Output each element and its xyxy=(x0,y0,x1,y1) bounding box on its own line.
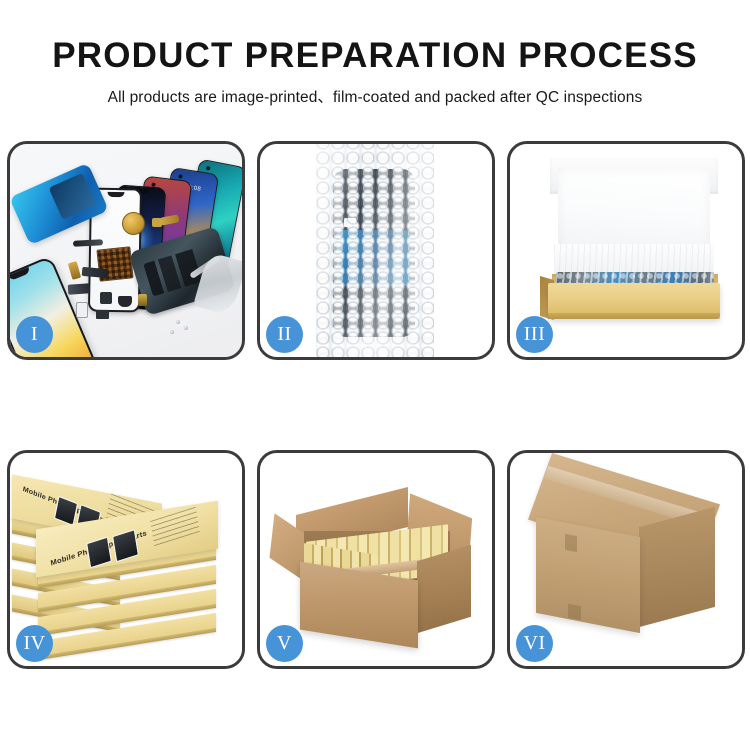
box-edge xyxy=(38,628,216,660)
process-step-panel-1[interactable]: 16:08 xyxy=(7,141,245,360)
screw-part xyxy=(184,326,188,330)
process-step-panel-4[interactable]: Mobile Phone Spare Parts Mobile Phone Sp… xyxy=(7,450,245,669)
taptic-engine-part xyxy=(118,296,132,307)
vibration-motor-part xyxy=(122,212,145,235)
carton-front-face xyxy=(536,517,640,633)
step-badge-2: II xyxy=(266,316,303,353)
process-step-panel-6[interactable]: VI xyxy=(507,450,745,669)
camera-module-part xyxy=(68,283,91,295)
screw-part xyxy=(170,330,174,334)
box-artwork-thumbnail xyxy=(112,529,139,562)
box-artwork-thumbnail xyxy=(54,496,78,526)
step-badge-5: V xyxy=(266,625,303,662)
process-step-grid: 16:08 xyxy=(7,141,745,669)
screw-part xyxy=(176,320,180,324)
carton-right-face xyxy=(639,507,715,627)
process-step-panel-5[interactable]: V xyxy=(257,450,495,669)
sim-tray-part xyxy=(76,302,88,318)
process-step-panel-3[interactable]: III xyxy=(507,141,745,360)
small-connector-part xyxy=(96,310,109,319)
step-badge-6: VI xyxy=(516,625,553,662)
page-title: PRODUCT PREPARATION PROCESS xyxy=(0,0,750,76)
step-badge-4: IV xyxy=(16,625,53,662)
page-subtitle: All products are image-printed、film-coat… xyxy=(0,76,750,107)
carton-seam-upper xyxy=(565,534,577,552)
gold-bracket-part xyxy=(138,294,147,306)
camera-hole-icon xyxy=(178,174,183,179)
box-front-panel xyxy=(548,283,720,319)
page-header: PRODUCT PREPARATION PROCESS All products… xyxy=(0,0,750,107)
plastic-sheen-overlay xyxy=(316,144,434,357)
process-step-panel-2[interactable]: II xyxy=(257,141,495,360)
camera-hole-icon xyxy=(206,166,211,171)
carton-seam-lower xyxy=(568,604,581,621)
box-artwork-thumbnail xyxy=(86,536,112,568)
box-spec-lines xyxy=(150,507,200,546)
gold-clip-part xyxy=(152,218,162,227)
chip-part xyxy=(100,292,112,304)
step-badge-1: I xyxy=(16,316,53,353)
step-badge-3: III xyxy=(516,316,553,353)
